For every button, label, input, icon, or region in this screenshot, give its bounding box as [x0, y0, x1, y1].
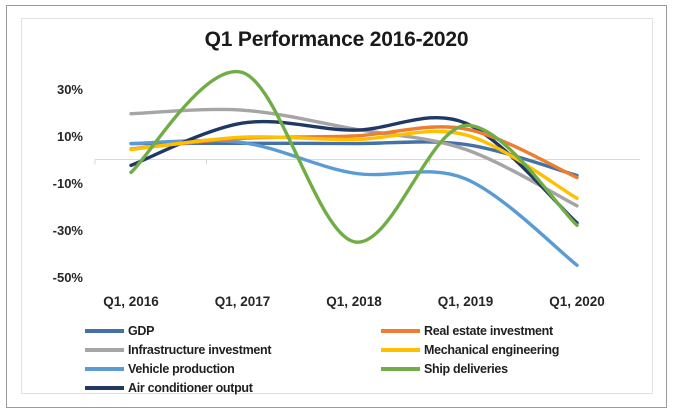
x-axis-tick-labels: Q1, 2016Q1, 2017Q1, 2018Q1, 2019Q1, 2020 [103, 294, 605, 309]
legend-item[interactable]: Air conditioner output [85, 378, 365, 397]
legend-item[interactable]: Mechanical engineering [381, 340, 661, 359]
axis-layer [95, 160, 640, 165]
series-line [131, 131, 577, 198]
y-axis-tick-label: -30% [53, 223, 84, 238]
x-axis-tick-label: Q1, 2016 [103, 294, 159, 309]
y-axis-tick-label: 30% [57, 82, 83, 97]
y-axis-tick-label: 10% [57, 129, 83, 144]
x-axis-tick-label: Q1, 2020 [549, 294, 605, 309]
legend-item-label: Ship deliveries [424, 362, 508, 376]
series-layer [131, 72, 577, 266]
legend-item-label: Air conditioner output [128, 381, 253, 395]
x-axis-tick-label: Q1, 2019 [438, 294, 494, 309]
legend-item-label: Real estate investment [424, 324, 553, 338]
legend-column-right: Real estate investmentMechanical enginee… [381, 321, 661, 378]
legend-item[interactable]: Real estate investment [381, 321, 661, 340]
x-axis-tick-label: Q1, 2017 [215, 294, 271, 309]
legend-item-label: Vehicle production [128, 362, 234, 376]
legend-item[interactable]: Vehicle production [85, 359, 365, 378]
legend-swatch-icon [381, 329, 420, 333]
chart-card: Q1 Performance 2016-2020 30%10%-10%-30%-… [6, 5, 667, 408]
legend-item-label: Infrastructure investment [128, 343, 271, 357]
legend-swatch-icon [381, 367, 420, 371]
series-line [131, 109, 577, 205]
y-axis-tick-label: -50% [53, 270, 84, 285]
legend-swatch-icon [381, 348, 420, 352]
legend-item[interactable]: GDP [85, 321, 365, 340]
legend-swatch-icon [85, 367, 124, 371]
legend-column-left: GDPInfrastructure investmentVehicle prod… [85, 321, 365, 397]
chart-legend: GDPInfrastructure investmentVehicle prod… [85, 321, 645, 399]
legend-swatch-icon [85, 348, 124, 352]
legend-swatch-icon [85, 329, 124, 333]
legend-swatch-icon [85, 386, 124, 390]
y-axis-tick-labels: 30%10%-10%-30%-50% [53, 82, 84, 285]
legend-item-label: Mechanical engineering [424, 343, 559, 357]
x-axis-tick-label: Q1, 2018 [326, 294, 382, 309]
legend-item-label: GDP [128, 324, 154, 338]
legend-item[interactable]: Infrastructure investment [85, 340, 365, 359]
legend-item[interactable]: Ship deliveries [381, 359, 661, 378]
y-axis-tick-label: -10% [53, 176, 84, 191]
